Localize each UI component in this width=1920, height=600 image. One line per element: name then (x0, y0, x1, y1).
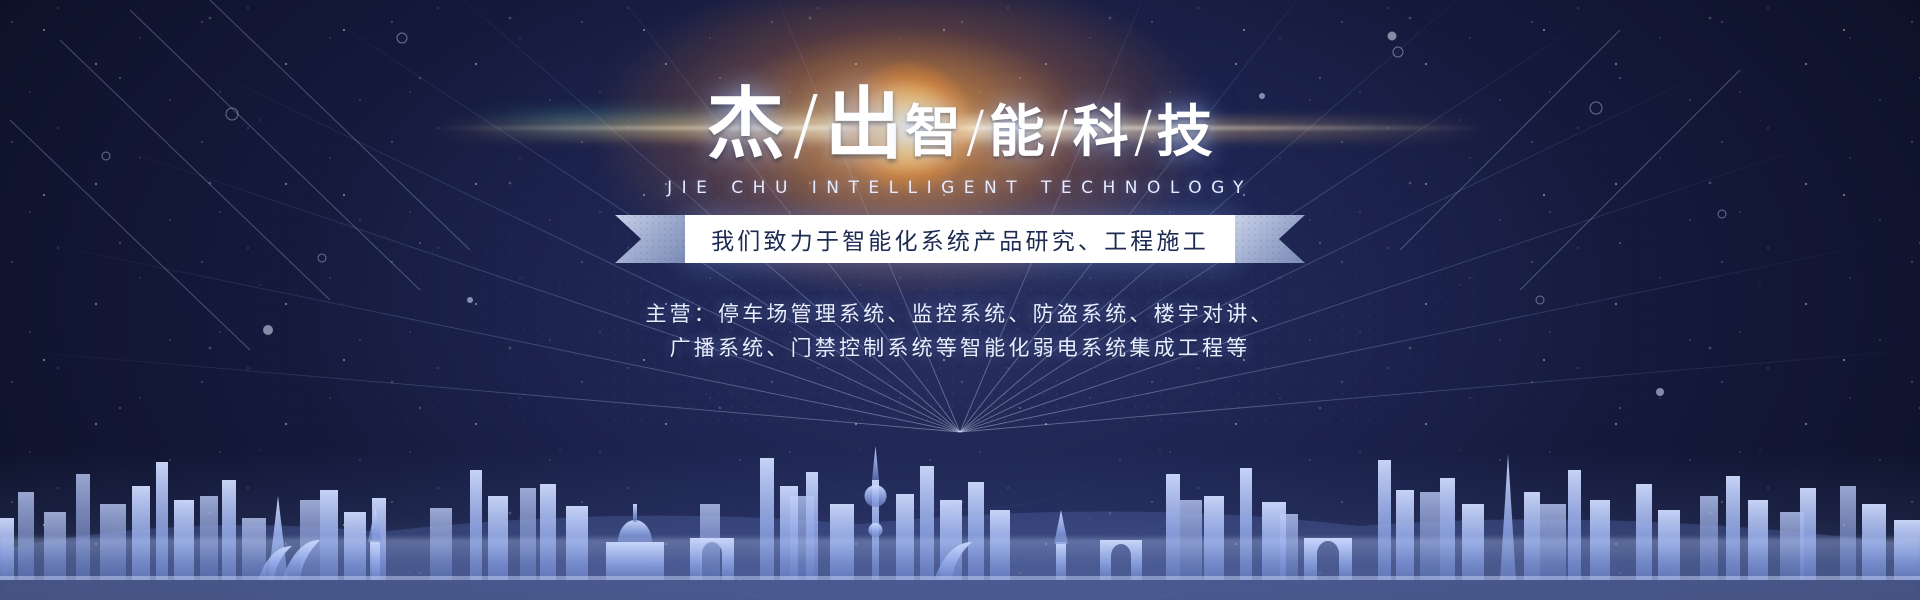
description-line-2: 广播系统、门禁控制系统等智能化弱电系统集成工程等 (645, 331, 1274, 365)
slogan-ribbon: 我们致力于智能化系统产品研究、工程施工 (615, 215, 1305, 263)
description-line-1: 主营：停车场管理系统、监控系统、防盗系统、楼宇对讲、 (645, 297, 1274, 331)
hero-banner: 杰 / 出 智 / 能 / 科 / 技 JIE CHU INTELLIGENT … (0, 0, 1920, 600)
title-separator-2: / (962, 105, 989, 164)
title-separator-1: / (787, 86, 825, 164)
main-title: 杰 / 出 智 / 能 / 科 / 技 (707, 86, 1214, 164)
title-separator-3: / (1046, 105, 1073, 164)
title-char-neng: 能 (989, 105, 1046, 164)
title-char-jie: 杰 (707, 86, 787, 164)
title-char-ke: 科 (1073, 105, 1130, 164)
title-char-chu: 出 (825, 86, 905, 164)
english-subtitle: JIE CHU INTELLIGENT TECHNOLOGY (667, 178, 1253, 198)
ribbon-body: 我们致力于智能化系统产品研究、工程施工 (685, 215, 1235, 263)
services-description: 主营：停车场管理系统、监控系统、防盗系统、楼宇对讲、 广播系统、门禁控制系统等智… (645, 297, 1274, 365)
ribbon-slogan-text: 我们致力于智能化系统产品研究、工程施工 (711, 222, 1209, 256)
ribbon-tail-right (1235, 215, 1305, 263)
title-separator-4: / (1130, 105, 1157, 164)
title-char-ji: 技 (1156, 105, 1213, 164)
ribbon-tail-left (615, 215, 685, 263)
title-char-zhi: 智 (905, 105, 962, 164)
banner-content: 杰 / 出 智 / 能 / 科 / 技 JIE CHU INTELLIGENT … (0, 0, 1920, 600)
